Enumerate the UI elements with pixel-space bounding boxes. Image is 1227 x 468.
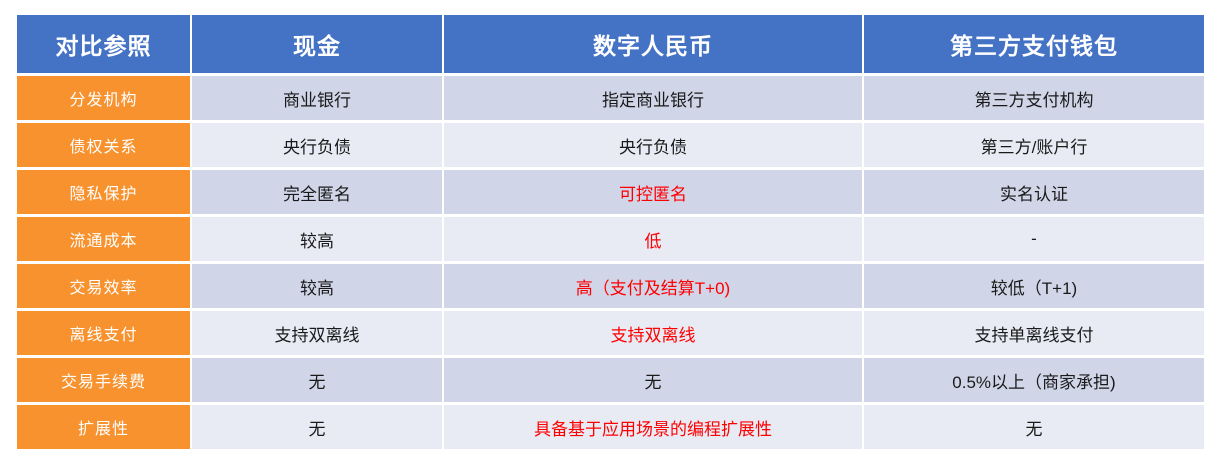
cell-wallet-transaction-efficiency: 较低（T+1) [864,264,1204,308]
column-header-third-party-wallet: 第三方支付钱包 [864,15,1204,73]
table-row: 流通成本 较高 低 - [17,217,1204,261]
cell-digital-rmb-issuer: 指定商业银行 [444,76,862,120]
table-header: 对比参照 现金 数字人民币 第三方支付钱包 [17,15,1204,73]
table-row: 交易效率 较高 高（支付及结算T+0) 较低（T+1) [17,264,1204,308]
row-header-privacy: 隐私保护 [17,170,190,214]
row-header-claim-relationship: 债权关系 [17,123,190,167]
column-header-digital-rmb: 数字人民币 [444,15,862,73]
column-header-criteria: 对比参照 [17,15,190,73]
cell-digital-rmb-claim-relationship: 央行负债 [444,123,862,167]
cell-wallet-privacy: 实名认证 [864,170,1204,214]
cell-wallet-issuer: 第三方支付机构 [864,76,1204,120]
cell-wallet-offline-payment: 支持单离线支付 [864,311,1204,355]
cell-cash-circulation-cost: 较高 [192,217,442,261]
cell-digital-rmb-extensibility: 具备基于应用场景的编程扩展性 [444,405,862,449]
cell-cash-extensibility: 无 [192,405,442,449]
cell-digital-rmb-circulation-cost: 低 [444,217,862,261]
row-header-circulation-cost: 流通成本 [17,217,190,261]
row-header-extensibility: 扩展性 [17,405,190,449]
cell-wallet-claim-relationship: 第三方/账户行 [864,123,1204,167]
row-header-offline-payment: 离线支付 [17,311,190,355]
comparison-table: 对比参照 现金 数字人民币 第三方支付钱包 分发机构 商业银行 指定商业银行 第… [15,12,1206,452]
comparison-table-container: 对比参照 现金 数字人民币 第三方支付钱包 分发机构 商业银行 指定商业银行 第… [17,15,1206,452]
table-row: 隐私保护 完全匿名 可控匿名 实名认证 [17,170,1204,214]
table-row: 离线支付 支持双离线 支持双离线 支持单离线支付 [17,311,1204,355]
cell-cash-offline-payment: 支持双离线 [192,311,442,355]
table-row: 债权关系 央行负债 央行负债 第三方/账户行 [17,123,1204,167]
column-header-cash: 现金 [192,15,442,73]
row-header-transaction-efficiency: 交易效率 [17,264,190,308]
cell-wallet-transaction-fee: 0.5%以上（商家承担) [864,358,1204,402]
table-row: 分发机构 商业银行 指定商业银行 第三方支付机构 [17,76,1204,120]
cell-digital-rmb-privacy: 可控匿名 [444,170,862,214]
row-header-transaction-fee: 交易手续费 [17,358,190,402]
table-body: 分发机构 商业银行 指定商业银行 第三方支付机构 债权关系 央行负债 央行负债 … [17,76,1204,449]
cell-digital-rmb-transaction-fee: 无 [444,358,862,402]
row-header-issuer: 分发机构 [17,76,190,120]
cell-cash-claim-relationship: 央行负债 [192,123,442,167]
table-header-row: 对比参照 现金 数字人民币 第三方支付钱包 [17,15,1204,73]
cell-cash-issuer: 商业银行 [192,76,442,120]
cell-wallet-extensibility: 无 [864,405,1204,449]
cell-digital-rmb-transaction-efficiency: 高（支付及结算T+0) [444,264,862,308]
table-row: 扩展性 无 具备基于应用场景的编程扩展性 无 [17,405,1204,449]
cell-wallet-circulation-cost: - [864,217,1204,261]
table-row: 交易手续费 无 无 0.5%以上（商家承担) [17,358,1204,402]
cell-cash-transaction-fee: 无 [192,358,442,402]
cell-cash-privacy: 完全匿名 [192,170,442,214]
cell-cash-transaction-efficiency: 较高 [192,264,442,308]
cell-digital-rmb-offline-payment: 支持双离线 [444,311,862,355]
